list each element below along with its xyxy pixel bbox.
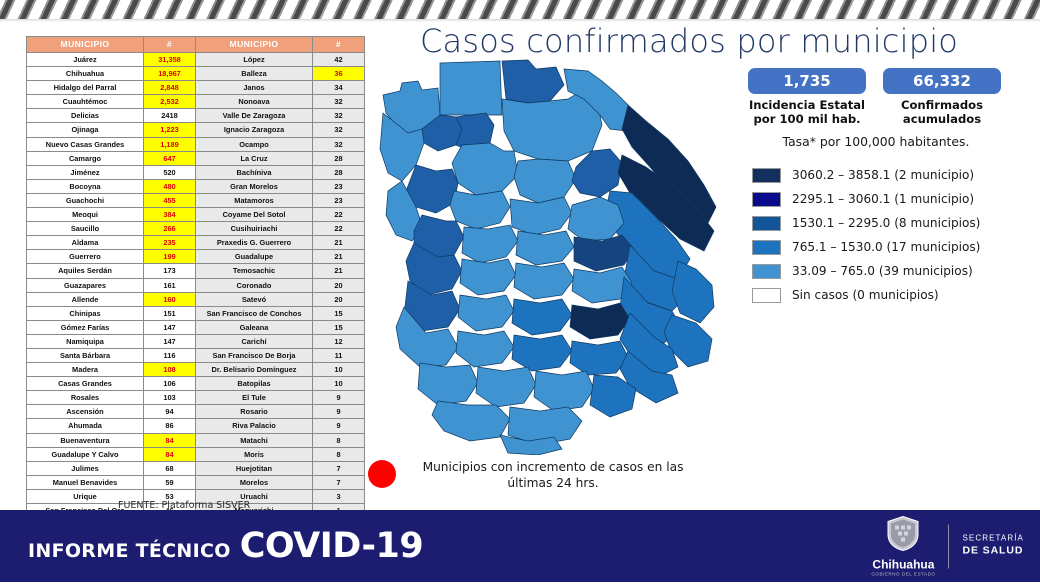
legend-row: 3060.2 – 3858.1 (2 municipio) (752, 163, 980, 187)
cell-count-right: 32 (313, 95, 365, 109)
map-municipality-region (514, 159, 576, 203)
increment-note-text: Municipios con incremento de casos en la… (408, 458, 698, 492)
cell-count-left: 68 (144, 461, 196, 475)
cell-municipio-left: Casas Grandes (27, 377, 144, 391)
legend-label: 1530.1 – 2295.0 (8 municipios) (792, 216, 980, 230)
cell-municipio-right: Coronado (196, 278, 313, 292)
cell-municipio-left: Allende (27, 292, 144, 306)
cell-municipio-left: Buenaventura (27, 433, 144, 447)
cell-municipio-left: Juárez (27, 53, 144, 67)
column-header-count-left: # (144, 37, 196, 53)
chihuahua-shield-block: Chihuahua GOBIERNO DEL ESTADO (871, 516, 935, 577)
map-municipality-region (502, 93, 602, 161)
map-legend: 3060.2 – 3858.1 (2 municipio)2295.1 – 30… (752, 163, 980, 307)
municipalities-table-container: MUNICIPIO # MUNICIPIO # Juárez31,358Lópe… (26, 36, 364, 532)
cell-count-right: 7 (313, 475, 365, 489)
cell-count-left: 86 (144, 419, 196, 433)
cell-count-left: 1,189 (144, 137, 196, 151)
cell-municipio-right: Valle De Zaragoza (196, 109, 313, 123)
cell-count-left: 1,223 (144, 123, 196, 137)
column-header-municipio-right: MUNICIPIO (196, 37, 313, 53)
legend-label: 2295.1 – 3060.1 (1 municipio) (792, 192, 974, 206)
legend-label: Sin casos (0 municipios) (792, 288, 939, 302)
column-header-count-right: # (313, 37, 365, 53)
footer-title-big: COVID-19 (240, 526, 424, 566)
table-row: Bocoyna480Gran Morelos23 (27, 179, 365, 193)
stat-confirmados-acumulados: 66,332 Confirmados acumulados (883, 68, 1001, 127)
cell-municipio-left: Saucillo (27, 222, 144, 236)
cell-count-right: 22 (313, 222, 365, 236)
table-row: Casas Grandes106Batopilas10 (27, 377, 365, 391)
table-row: Meoqui384Coyame Del Sotol22 (27, 208, 365, 222)
map-municipality-region (502, 60, 564, 103)
map-municipality-region (510, 197, 572, 235)
table-row: Aquiles Serdán173Temosachic21 (27, 264, 365, 278)
legend-row: Sin casos (0 municipios) (752, 283, 980, 307)
map-municipality-region (432, 401, 510, 441)
secretaria-line2: DE SALUD (962, 544, 1024, 558)
cell-municipio-left: Guazapares (27, 278, 144, 292)
map-municipality-region (570, 303, 630, 339)
table-row: Madera108Dr. Belisario Domínguez10 (27, 363, 365, 377)
cell-count-left: 160 (144, 292, 196, 306)
secretaria-line1: SECRETARÍA (962, 534, 1024, 544)
footer-banner: INFORME TÉCNICO COVID-19 Chihuahua GOBIE… (0, 510, 1040, 582)
cell-count-right: 21 (313, 236, 365, 250)
cell-count-right: 32 (313, 109, 365, 123)
logo-name: Chihuahua (871, 558, 935, 572)
cell-count-right: 21 (313, 264, 365, 278)
cell-municipio-right: Balleza (196, 67, 313, 81)
cell-municipio-right: San Francisco de Conchos (196, 306, 313, 320)
map-municipality-region (570, 341, 628, 375)
legend-color-swatch (752, 240, 781, 255)
table-row: Saucillo266Cusihuiriachi22 (27, 222, 365, 236)
table-row: Cuauhtémoc2,532Nonoava32 (27, 95, 365, 109)
cell-count-right: 42 (313, 53, 365, 67)
stat-incidencia-value: 1,735 (748, 68, 866, 94)
source-note: FUENTE: Plataforma SISVER (118, 500, 250, 511)
cell-count-left: 147 (144, 334, 196, 348)
table-row: Guazapares161Coronado20 (27, 278, 365, 292)
map-municipality-region (512, 299, 572, 335)
cell-municipio-left: Guachochi (27, 193, 144, 207)
cell-municipio-right: Janos (196, 81, 313, 95)
cell-count-right: 10 (313, 363, 365, 377)
cell-count-right: 22 (313, 208, 365, 222)
cell-municipio-right: Moris (196, 447, 313, 461)
table-row: Rosales103El Tule9 (27, 391, 365, 405)
cell-municipio-left: Ojinaga (27, 123, 144, 137)
cell-count-left: 2,848 (144, 81, 196, 95)
map-municipality-region (534, 371, 594, 411)
cell-municipio-right: Batopilas (196, 377, 313, 391)
table-body: Juárez31,358López42Chihuahua18,967Ballez… (27, 53, 365, 532)
map-municipality-region (440, 61, 502, 115)
table-row: Hidalgo del Parral2,848Janos34 (27, 81, 365, 95)
cell-municipio-left: Ahumada (27, 419, 144, 433)
cell-count-left: 84 (144, 433, 196, 447)
cell-municipio-left: Chinipas (27, 306, 144, 320)
table-row: Gómez Farías147Galeana15 (27, 320, 365, 334)
map-municipality-region (512, 335, 572, 371)
red-circle-icon (368, 460, 396, 488)
cell-municipio-right: Matachi (196, 433, 313, 447)
cell-count-right: 8 (313, 433, 365, 447)
cell-count-right: 15 (313, 320, 365, 334)
cell-count-right: 7 (313, 461, 365, 475)
cell-municipio-left: Guerrero (27, 250, 144, 264)
table-row: Chihuahua18,967Balleza36 (27, 67, 365, 81)
legend-row: 33.09 – 765.0 (39 municipios) (752, 259, 980, 283)
cell-count-left: 116 (144, 348, 196, 362)
cell-count-right: 11 (313, 348, 365, 362)
cell-count-right: 32 (313, 123, 365, 137)
cell-count-left: 94 (144, 405, 196, 419)
cell-municipio-left: Cuauhtémoc (27, 95, 144, 109)
legend-color-swatch (752, 288, 781, 303)
cell-municipio-right: Nonoava (196, 95, 313, 109)
stat-confirmados-value: 66,332 (883, 68, 1001, 94)
cell-count-left: 103 (144, 391, 196, 405)
cell-municipio-left: Camargo (27, 151, 144, 165)
increment-note: Municipios con incremento de casos en la… (368, 458, 698, 492)
cell-count-left: 2418 (144, 109, 196, 123)
cell-municipio-left: Aldama (27, 236, 144, 250)
map-municipality-region (450, 191, 510, 229)
map-municipality-region (456, 331, 514, 367)
cell-municipio-left: Chihuahua (27, 67, 144, 81)
cell-municipio-left: Namiquipa (27, 334, 144, 348)
map-region-group (380, 60, 716, 455)
footer-title-small: INFORME TÉCNICO (28, 540, 231, 562)
table-row: Ojinaga1,223Ignacio Zaragoza32 (27, 123, 365, 137)
legend-row: 1530.1 – 2295.0 (8 municipios) (752, 211, 980, 235)
legend-row: 2295.1 – 3060.1 (1 municipio) (752, 187, 980, 211)
cell-municipio-left: Santa Bárbara (27, 348, 144, 362)
legend-row: 765.1 – 1530.0 (17 municipios) (752, 235, 980, 259)
table-row: Santa Bárbara116San Francisco De Borja11 (27, 348, 365, 362)
table-row: Ahumada86Riva Palacio9 (27, 419, 365, 433)
legend-label: 3060.2 – 3858.1 (2 municipio) (792, 168, 974, 182)
cell-municipio-right: Galeana (196, 320, 313, 334)
map-municipality-region (418, 363, 478, 405)
cell-count-right: 28 (313, 165, 365, 179)
cell-count-right: 21 (313, 250, 365, 264)
cell-municipio-right: Coyame Del Sotol (196, 208, 313, 222)
cell-municipio-right: Praxedis G. Guerrero (196, 236, 313, 250)
cell-count-left: 480 (144, 179, 196, 193)
cell-municipio-right: Riva Palacio (196, 419, 313, 433)
cell-count-right: 9 (313, 419, 365, 433)
cell-count-right: 34 (313, 81, 365, 95)
cell-municipio-right: Gran Morelos (196, 179, 313, 193)
cell-count-left: 18,967 (144, 67, 196, 81)
map-municipality-region (460, 259, 516, 295)
municipalities-table: MUNICIPIO # MUNICIPIO # Juárez31,358Lópe… (26, 36, 365, 532)
cell-count-left: 199 (144, 250, 196, 264)
cell-count-right: 8 (313, 447, 365, 461)
cell-count-left: 161 (144, 278, 196, 292)
legend-color-swatch (752, 264, 781, 279)
map-municipality-region (568, 197, 624, 241)
cell-count-right: 36 (313, 67, 365, 81)
table-row: Ascensión94Rosario9 (27, 405, 365, 419)
cell-municipio-left: Julimes (27, 461, 144, 475)
rate-footnote: Tasa* por 100,000 habitantes. (748, 134, 1004, 149)
map-municipality-region (476, 367, 536, 407)
cell-count-left: 520 (144, 165, 196, 179)
cell-municipio-left: Manuel Benavides (27, 475, 144, 489)
table-header-row: MUNICIPIO # MUNICIPIO # (27, 37, 365, 53)
cell-municipio-right: Guadalupe (196, 250, 313, 264)
chihuahua-choropleth-map (378, 55, 728, 455)
table-row: Chinipas151San Francisco de Conchos15 (27, 306, 365, 320)
column-header-municipio-left: MUNICIPIO (27, 37, 144, 53)
cell-municipio-right: Cusihuiriachi (196, 222, 313, 236)
cell-count-left: 31,358 (144, 53, 196, 67)
cell-municipio-right: Rosario (196, 405, 313, 419)
cell-count-left: 455 (144, 193, 196, 207)
map-municipality-region (672, 261, 714, 323)
shield-icon (886, 516, 920, 552)
cell-count-left: 59 (144, 475, 196, 489)
cell-count-left: 173 (144, 264, 196, 278)
legend-label: 33.09 – 765.0 (39 municipios) (792, 264, 973, 278)
cell-municipio-right: López (196, 53, 313, 67)
cell-count-left: 2,532 (144, 95, 196, 109)
table-row: Jiménez520Bachíniva28 (27, 165, 365, 179)
cell-municipio-left: Hidalgo del Parral (27, 81, 144, 95)
legend-label: 765.1 – 1530.0 (17 municipios) (792, 240, 980, 254)
cell-municipio-left: Rosales (27, 391, 144, 405)
cell-count-left: 151 (144, 306, 196, 320)
table-row: Guachochi455Matamoros23 (27, 193, 365, 207)
table-row: Manuel Benavides59Morelos7 (27, 475, 365, 489)
page-title: Casos confirmados por municipio (420, 22, 958, 60)
table-row: Namiquipa147Carichí12 (27, 334, 365, 348)
map-municipality-region (574, 235, 634, 271)
table-row: Nuevo Casas Grandes1,189Ocampo32 (27, 137, 365, 151)
cell-municipio-left: Aquiles Serdán (27, 264, 144, 278)
table-row: Guadalupe Y Calvo84Moris8 (27, 447, 365, 461)
table-row: Buenaventura84Matachi8 (27, 433, 365, 447)
cell-count-left: 106 (144, 377, 196, 391)
cell-municipio-right: El Tule (196, 391, 313, 405)
cell-municipio-left: Delicias (27, 109, 144, 123)
footer-title: INFORME TÉCNICO COVID-19 (28, 526, 423, 566)
cell-municipio-right: Huejotitan (196, 461, 313, 475)
cell-count-left: 147 (144, 320, 196, 334)
cell-municipio-left: Meoqui (27, 208, 144, 222)
stat-confirmados-label: Confirmados acumulados (883, 98, 1001, 127)
cell-municipio-left: Bocoyna (27, 179, 144, 193)
table-row: Guerrero199Guadalupe21 (27, 250, 365, 264)
cell-count-right: 28 (313, 151, 365, 165)
secretaria-block: SECRETARÍA DE SALUD (962, 534, 1024, 558)
cell-count-left: 647 (144, 151, 196, 165)
statistics-group: 1,735 Incidencia Estatal por 100 mil hab… (748, 68, 1001, 127)
table-row: Juárez31,358López42 (27, 53, 365, 67)
cell-municipio-right: Matamoros (196, 193, 313, 207)
cell-municipio-right: San Francisco De Borja (196, 348, 313, 362)
map-municipality-region (462, 225, 518, 263)
cell-municipio-left: Madera (27, 363, 144, 377)
decorative-hazard-stripe (0, 0, 1040, 19)
cell-municipio-right: Dr. Belisario Domínguez (196, 363, 313, 377)
cell-municipio-right: Carichí (196, 334, 313, 348)
table-row: Allende160Satevó20 (27, 292, 365, 306)
cell-municipio-left: Nuevo Casas Grandes (27, 137, 144, 151)
cell-count-right: 20 (313, 278, 365, 292)
cell-count-right: 23 (313, 193, 365, 207)
cell-count-right: 15 (313, 306, 365, 320)
table-row: Aldama235Praxedis G. Guerrero21 (27, 236, 365, 250)
cell-count-right: 23 (313, 179, 365, 193)
cell-municipio-left: Jiménez (27, 165, 144, 179)
cell-count-right: 20 (313, 292, 365, 306)
cell-count-left: 266 (144, 222, 196, 236)
table-row: Camargo647La Cruz28 (27, 151, 365, 165)
stat-incidencia-estatal: 1,735 Incidencia Estatal por 100 mil hab… (748, 68, 866, 127)
map-municipality-region (458, 295, 514, 331)
legend-color-swatch (752, 168, 781, 183)
cell-municipio-left: Guadalupe Y Calvo (27, 447, 144, 461)
cell-count-right: 9 (313, 391, 365, 405)
cell-municipio-left: Ascensión (27, 405, 144, 419)
legend-color-swatch (752, 192, 781, 207)
cell-municipio-right: Ocampo (196, 137, 313, 151)
table-row: Delicias2418Valle De Zaragoza32 (27, 109, 365, 123)
cell-count-right: 3 (313, 489, 365, 503)
logo-divider (948, 524, 949, 568)
cell-count-right: 9 (313, 405, 365, 419)
cell-municipio-left: Gómez Farías (27, 320, 144, 334)
cell-count-left: 235 (144, 236, 196, 250)
map-municipality-region (514, 263, 574, 299)
legend-color-swatch (752, 216, 781, 231)
map-municipality-region (452, 143, 518, 195)
table-row: Julimes68Huejotitan7 (27, 461, 365, 475)
cell-count-left: 108 (144, 363, 196, 377)
cell-count-right: 12 (313, 334, 365, 348)
government-logo: Chihuahua GOBIERNO DEL ESTADO SECRETARÍA… (871, 516, 1024, 577)
cell-count-right: 10 (313, 377, 365, 391)
cell-count-left: 84 (144, 447, 196, 461)
cell-count-right: 32 (313, 137, 365, 151)
cell-municipio-right: La Cruz (196, 151, 313, 165)
cell-count-left: 384 (144, 208, 196, 222)
map-municipality-region (516, 231, 574, 265)
cell-municipio-right: Ignacio Zaragoza (196, 123, 313, 137)
cell-municipio-right: Bachíniva (196, 165, 313, 179)
logo-subtitle: GOBIERNO DEL ESTADO (871, 572, 935, 577)
stat-incidencia-label: Incidencia Estatal por 100 mil hab. (748, 98, 866, 127)
cell-municipio-right: Satevó (196, 292, 313, 306)
cell-municipio-right: Morelos (196, 475, 313, 489)
cell-municipio-right: Temosachic (196, 264, 313, 278)
